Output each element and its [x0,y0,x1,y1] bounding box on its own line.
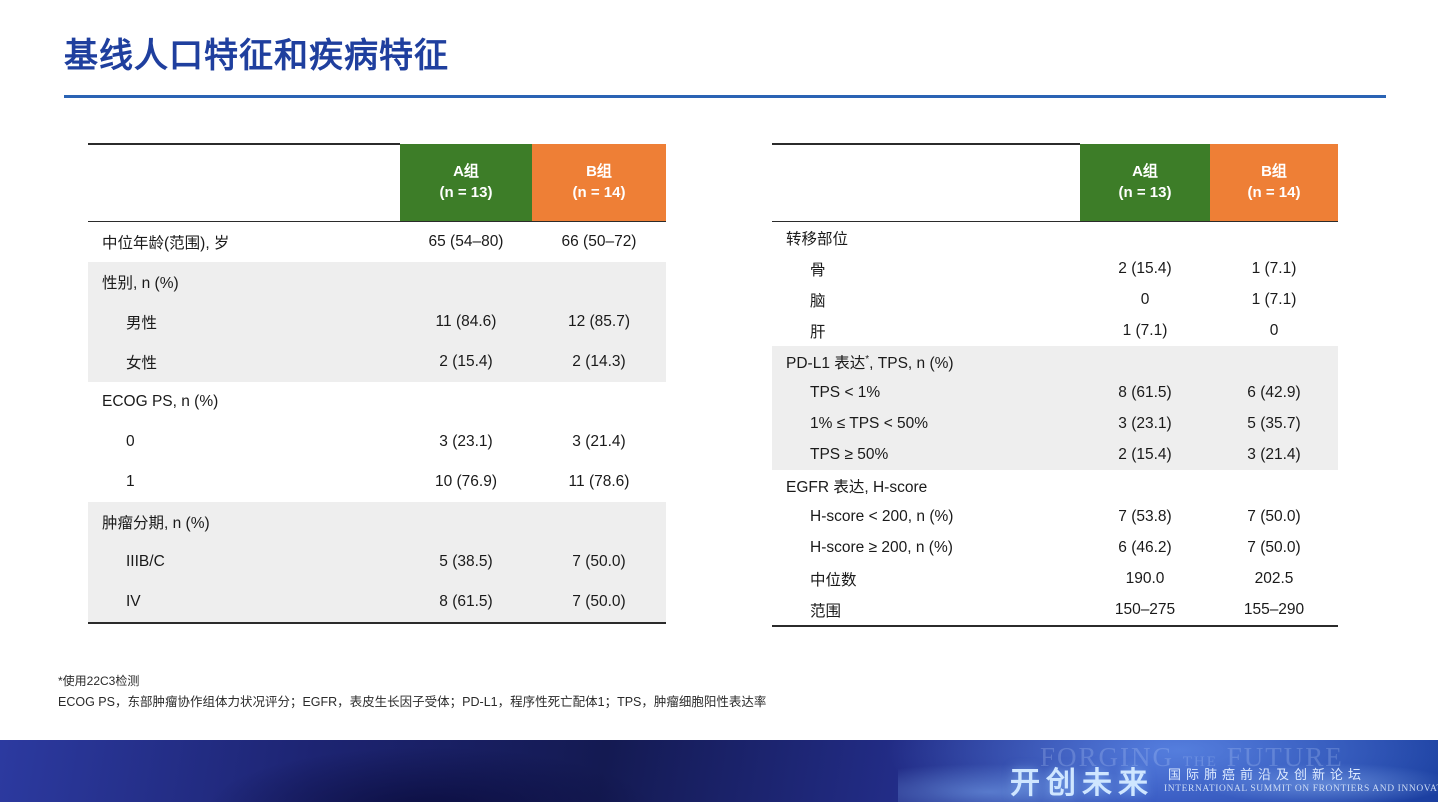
row-value-a: 2 (15.4) [1080,253,1210,284]
row-label: 女性 [88,342,400,382]
group-b-label: B组 [532,162,666,182]
table-row: 中位年龄(范围), 岁 65 (54–80) 66 (50–72) [88,222,666,263]
row-value-a: 8 (61.5) [400,582,532,622]
row-value-a: 8 (61.5) [1080,377,1210,408]
row-label: 1 [88,462,400,502]
row-value-b [532,502,666,542]
row-value-b: 202.5 [1210,563,1338,594]
row-label: EGFR 表达, H-score [772,470,1080,501]
row-value-b: 3 (21.4) [1210,439,1338,470]
row-label: 中位数 [772,563,1080,594]
row-label: 肿瘤分期, n (%) [88,502,400,542]
row-label-main: PD-L1 表达 [786,355,865,372]
slide-footer-banner: FORGING THE FUTURE 开创未来 国际肺癌前沿及创新论坛 INTE… [0,740,1438,802]
table-row: 范围 150–275 155–290 [772,594,1338,625]
row-value-b [532,262,666,302]
row-label: PD-L1 表达*, TPS, n (%) [772,346,1080,377]
group-b-label: B组 [1210,162,1338,182]
row-label: 中位年龄(范围), 岁 [88,222,400,263]
table-row: 脑 0 1 (7.1) [772,284,1338,315]
header-group-b: B组 (n = 14) [1210,144,1338,221]
table-row: 1 10 (76.9) 11 (78.6) [88,462,666,502]
table-body-right: 转移部位 骨 2 (15.4) 1 (7.1) 脑 0 1 (7.1) 肝 1 … [772,222,1338,627]
table-row: TPS < 1% 8 (61.5) 6 (42.9) [772,377,1338,408]
row-label: TPS < 1% [772,377,1080,408]
row-label: ECOG PS, n (%) [88,382,400,422]
row-label: 转移部位 [772,222,1080,254]
table-row: 中位数 190.0 202.5 [772,563,1338,594]
table-row: PD-L1 表达*, TPS, n (%) [772,346,1338,377]
footnotes: *使用22C3检测 ECOG PS，东部肿瘤协作组体力状况评分；EGFR，表皮生… [58,672,766,712]
header-blank-cell [88,144,400,221]
table-row: EGFR 表达, H-score [772,470,1338,501]
row-value-b: 7 (50.0) [1210,501,1338,532]
row-value-a: 6 (46.2) [1080,532,1210,563]
row-label: 骨 [772,253,1080,284]
row-value-b: 155–290 [1210,594,1338,625]
row-label: 性别, n (%) [88,262,400,302]
group-b-count: (n = 14) [532,183,666,203]
table-header-row: A组 (n = 13) B组 (n = 14) [88,144,666,221]
table-row: 男性 11 (84.6) 12 (85.7) [88,302,666,342]
row-label: 肝 [772,315,1080,346]
table-row: 肿瘤分期, n (%) [88,502,666,542]
row-value-b: 7 (50.0) [1210,532,1338,563]
baseline-characteristics-table-right: A组 (n = 13) B组 (n = 14) 转移部位 骨 2 (15.4) … [772,143,1338,627]
row-value-b [1210,346,1338,377]
banner-subtitle-cn: 国际肺癌前沿及创新论坛 [1168,764,1366,783]
row-label: H-score ≥ 200, n (%) [772,532,1080,563]
table-bottom-rule [88,622,666,623]
table-bottom-rule [772,625,1338,626]
row-value-b: 3 (21.4) [532,422,666,462]
row-value-a: 190.0 [1080,563,1210,594]
row-value-a [1080,470,1210,501]
row-value-b: 6 (42.9) [1210,377,1338,408]
table-header-row: A组 (n = 13) B组 (n = 14) [772,144,1338,221]
group-a-label: A组 [1080,162,1210,182]
header-blank-cell [772,144,1080,221]
row-value-a [400,502,532,542]
row-value-b: 0 [1210,315,1338,346]
table-row: 0 3 (23.1) 3 (21.4) [88,422,666,462]
row-value-a: 3 (23.1) [400,422,532,462]
row-value-a: 10 (76.9) [400,462,532,502]
row-label: 范围 [772,594,1080,625]
table-row: H-score ≥ 200, n (%) 6 (46.2) 7 (50.0) [772,532,1338,563]
page-title: 基线人口特征和疾病特征 [64,28,449,77]
row-value-a: 7 (53.8) [1080,501,1210,532]
table-row: IV 8 (61.5) 7 (50.0) [88,582,666,622]
row-value-b: 5 (35.7) [1210,408,1338,439]
row-value-a: 150–275 [1080,594,1210,625]
row-value-b: 12 (85.7) [532,302,666,342]
row-value-a: 5 (38.5) [400,542,532,582]
baseline-characteristics-table-left: A组 (n = 13) B组 (n = 14) 中位年龄(范围), 岁 65 (… [88,143,666,624]
row-value-a: 2 (15.4) [1080,439,1210,470]
title-divider [64,95,1386,98]
row-value-a [1080,222,1210,254]
banner-title-cn: 开创未来 [1010,758,1154,802]
row-label-tail: , TPS, n (%) [869,355,953,372]
row-label: IIIB/C [88,542,400,582]
table-row: 性别, n (%) [88,262,666,302]
table-row: 女性 2 (15.4) 2 (14.3) [88,342,666,382]
row-value-b: 2 (14.3) [532,342,666,382]
row-value-b: 1 (7.1) [1210,253,1338,284]
header-group-a: A组 (n = 13) [400,144,532,221]
row-value-a: 11 (84.6) [400,302,532,342]
footnote-line-1: *使用22C3检测 [58,672,766,692]
row-label: 脑 [772,284,1080,315]
row-value-a: 65 (54–80) [400,222,532,263]
row-value-b: 1 (7.1) [1210,284,1338,315]
row-value-a [400,382,532,422]
row-value-a [1080,346,1210,377]
table-row: 骨 2 (15.4) 1 (7.1) [772,253,1338,284]
group-a-label: A组 [400,162,532,182]
row-label: 0 [88,422,400,462]
row-label: 男性 [88,302,400,342]
row-value-b: 7 (50.0) [532,542,666,582]
row-value-a: 2 (15.4) [400,342,532,382]
group-a-count: (n = 13) [1080,183,1210,203]
header-group-a: A组 (n = 13) [1080,144,1210,221]
row-label: H-score < 200, n (%) [772,501,1080,532]
table-body-left: 中位年龄(范围), 岁 65 (54–80) 66 (50–72) 性别, n … [88,222,666,624]
row-value-b [1210,470,1338,501]
table-row: 肝 1 (7.1) 0 [772,315,1338,346]
row-label: IV [88,582,400,622]
table-row: 1% ≤ TPS < 50% 3 (23.1) 5 (35.7) [772,408,1338,439]
group-a-count: (n = 13) [400,183,532,203]
row-value-b: 11 (78.6) [532,462,666,502]
table-row: H-score < 200, n (%) 7 (53.8) 7 (50.0) [772,501,1338,532]
row-label: 1% ≤ TPS < 50% [772,408,1080,439]
row-value-b [1210,222,1338,254]
row-value-b: 7 (50.0) [532,582,666,622]
group-b-count: (n = 14) [1210,183,1338,203]
row-value-a: 3 (23.1) [1080,408,1210,439]
footnote-line-2: ECOG PS，东部肿瘤协作组体力状况评分；EGFR，表皮生长因子受体；PD-L… [58,692,766,713]
table-row: 转移部位 [772,222,1338,254]
row-value-b [532,382,666,422]
header-group-b: B组 (n = 14) [532,144,666,221]
row-value-a [400,262,532,302]
row-label: TPS ≥ 50% [772,439,1080,470]
table-row: TPS ≥ 50% 2 (15.4) 3 (21.4) [772,439,1338,470]
row-value-a: 1 (7.1) [1080,315,1210,346]
row-value-b: 66 (50–72) [532,222,666,263]
banner-subtitle-en: INTERNATIONAL SUMMIT ON FRONTIERS AND IN… [1164,784,1438,794]
table-row: IIIB/C 5 (38.5) 7 (50.0) [88,542,666,582]
row-value-a: 0 [1080,284,1210,315]
table-row: ECOG PS, n (%) [88,382,666,422]
